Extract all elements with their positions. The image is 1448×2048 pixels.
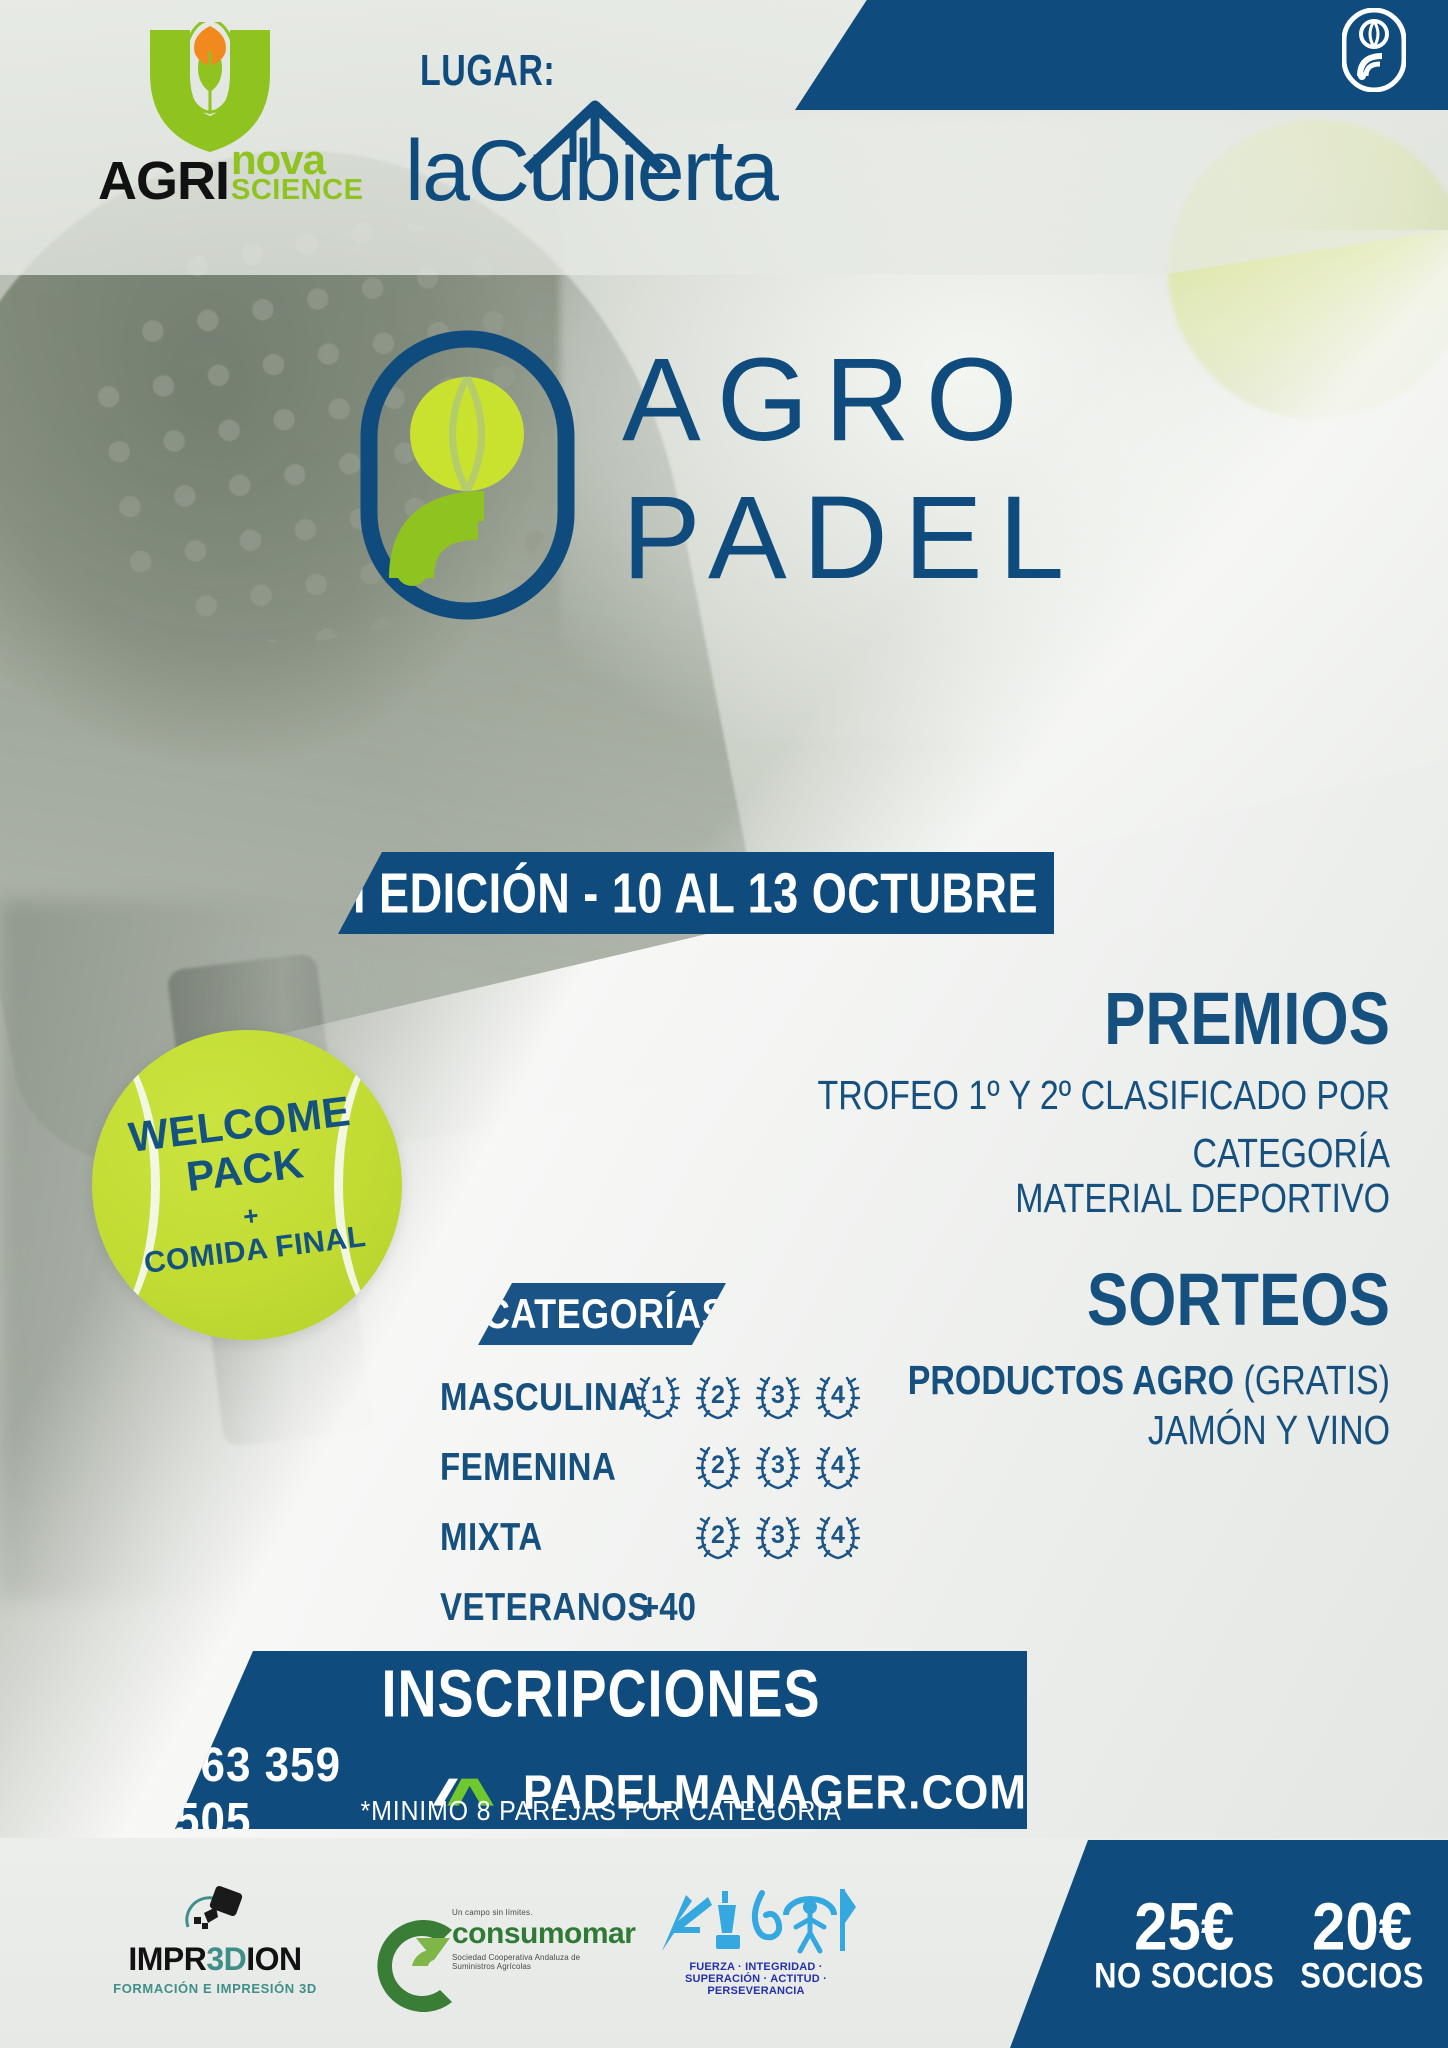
venue-logo-lacubierta: laCubierta — [405, 100, 825, 220]
page-title-line1: AGRO — [622, 332, 1034, 468]
category-name: FEMENINA — [440, 1445, 632, 1490]
printer-head-icon — [172, 1883, 258, 1939]
wreath-number: 4 — [812, 1442, 864, 1492]
impr3dion-word-c: ION — [246, 1941, 301, 1977]
venue-label: LUGAR: — [420, 47, 555, 97]
category-wreaths: 2 3 4 — [692, 1512, 864, 1562]
price-amount: 25€ — [1094, 1891, 1274, 1962]
poster-root: AGRI nova SCIENCE LUGAR: laCubierta — [0, 0, 1448, 2048]
wreath-number: 3 — [752, 1512, 804, 1562]
fisap-subtitle: FUERZA · INTEGRIDAD · SUPERACIÓN · ACTIT… — [651, 1961, 861, 1997]
page-title-line2: PADEL — [622, 470, 1080, 606]
welcome-pack-plus: + — [241, 1200, 260, 1233]
wreath-number: 4 — [812, 1512, 864, 1562]
laurel-wreath-icon: 2 — [692, 1442, 744, 1492]
price-label: NO SOCIOS — [1094, 1955, 1274, 1996]
welcome-pack-content: WELCOME PACK + COMIDA FINAL — [92, 1030, 402, 1340]
date-banner-text: I EDICIÓN - 10 AL 13 OCTUBRE — [353, 860, 1038, 926]
title-text-padel: PADEL — [622, 470, 1080, 606]
category-row: MASCULINA 1 2 3 4 — [440, 1368, 920, 1426]
category-row: MIXTA 2 3 4 — [440, 1508, 920, 1566]
laurel-wreath-icon: 3 — [752, 1512, 804, 1562]
fisap-figures-icon — [656, 1881, 856, 1959]
category-age-limit: +40 — [640, 1585, 696, 1630]
price-amount: 20€ — [1300, 1891, 1424, 1962]
category-row: VETERANOS +40 — [440, 1578, 920, 1636]
agrinova-word-nova: nova — [231, 142, 363, 178]
sponsor-logos-row: IMPR3DION FORMACIÓN E IMPRESIÓN 3D Un ca… — [110, 1864, 910, 2014]
wreath-number: 2 — [692, 1442, 744, 1492]
laurel-wreath-icon: 3 — [752, 1372, 804, 1422]
price-label: SOCIOS — [1300, 1955, 1424, 1996]
agrinova-word-science: SCIENCE — [231, 177, 363, 205]
category-name: MASCULINA — [440, 1375, 632, 1420]
consumomar-c-icon — [372, 1920, 464, 2012]
prizes-line-1: TROFEO 1º Y 2º CLASIFICADO POR CATEGORÍA — [711, 1067, 1390, 1182]
sponsor-logo-fisap: FUERZA · INTEGRIDAD · SUPERACIÓN · ACTIT… — [651, 1881, 861, 1997]
prizes-heading: PREMIOS — [690, 983, 1390, 1057]
price-item-member: 20€ SOCIOS — [1300, 1895, 1424, 1994]
prizes-line-2: MATERIAL DEPORTIVO — [711, 1170, 1390, 1228]
agrinova-word-agri: AGRI — [98, 157, 229, 207]
laurel-wreath-icon: 2 — [692, 1512, 744, 1562]
category-name: MIXTA — [440, 1515, 632, 1560]
wreath-number: 2 — [692, 1372, 744, 1422]
welcome-pack-badge: WELCOME PACK + COMIDA FINAL — [92, 1030, 402, 1340]
registration-banner: INSCRIPCIONES 663 359 505 PADELMANAGER.C… — [175, 1651, 1027, 1829]
categories-banner-text: CATEGORÍAS — [484, 1290, 726, 1339]
category-row: FEMENINA 2 3 4 — [440, 1438, 920, 1496]
date-banner: I EDICIÓN - 10 AL 13 OCTUBRE — [338, 852, 1054, 934]
categories-banner: CATEGORÍAS — [478, 1283, 726, 1345]
impr3dion-word-a: IMPR — [128, 1941, 206, 1977]
laurel-wreath-icon: 1 — [632, 1372, 684, 1422]
sponsor-logo-impr3dion: IMPR3DION FORMACIÓN E IMPRESIÓN 3D — [110, 1883, 320, 1996]
consumomar-tagline: Un campo sin límites. — [452, 1908, 593, 1917]
categories-list: MASCULINA 1 2 3 4 — [440, 1368, 920, 1648]
wreath-number: 4 — [812, 1372, 864, 1422]
wreath-number: 3 — [752, 1442, 804, 1492]
laurel-wreath-icon: 4 — [812, 1442, 864, 1492]
consumomar-wordmark: consumomar — [452, 1917, 593, 1951]
header-blue-shape-secondary — [1180, 105, 1448, 110]
title-text-agro: AGRO — [622, 332, 1034, 468]
raffles-heading: SORTEOS — [690, 1264, 1390, 1338]
raffles-line-1-light: (GRATIS) — [1244, 1358, 1390, 1403]
laurel-wreath-icon: 2 — [692, 1372, 744, 1422]
registration-note: *MINIMO 8 PAREJAS POR CATEGORIA — [175, 1795, 1027, 1827]
registration-title: INSCRIPCIONES — [175, 1656, 1027, 1733]
laurel-wreath-icon: 3 — [752, 1442, 804, 1492]
sponsor-logo-consumomar: Un campo sin límites. consumomar Socieda… — [378, 1908, 593, 1971]
laurel-wreath-icon: 4 — [812, 1372, 864, 1422]
price-item-nonmember: 25€ NO SOCIOS — [1094, 1895, 1274, 1994]
category-wreaths: 1 2 3 4 — [632, 1372, 864, 1422]
wreath-number: 1 — [632, 1372, 684, 1422]
impr3dion-wordmark: IMPR3DION — [110, 1941, 320, 1978]
category-name: VETERANOS — [440, 1585, 632, 1630]
sponsor-logo-agrinova: AGRI nova SCIENCE — [98, 22, 428, 207]
impr3dion-subtitle: FORMACIÓN E IMPRESIÓN 3D — [110, 1981, 320, 1996]
agrinova-wordmark: AGRI nova SCIENCE — [98, 142, 363, 207]
padel-ball-icon — [1342, 8, 1406, 92]
wreath-number: 3 — [752, 1372, 804, 1422]
registration-contact-row: 663 359 505 PADELMANAGER.COM — [175, 1743, 1027, 1843]
laurel-wreath-icon: 4 — [812, 1512, 864, 1562]
wreath-number: 2 — [692, 1512, 744, 1562]
venue-name: laCubierta — [405, 122, 777, 221]
raffles-line-1-bold: PRODUCTOS AGRO — [908, 1358, 1244, 1403]
impr3dion-word-b: 3D — [206, 1941, 246, 1977]
agropadel-logo-icon — [360, 330, 575, 620]
consumomar-subtitle: Sociedad Cooperativa Andaluza de Suminis… — [452, 1953, 593, 1971]
category-wreaths: 2 3 4 — [692, 1442, 864, 1492]
